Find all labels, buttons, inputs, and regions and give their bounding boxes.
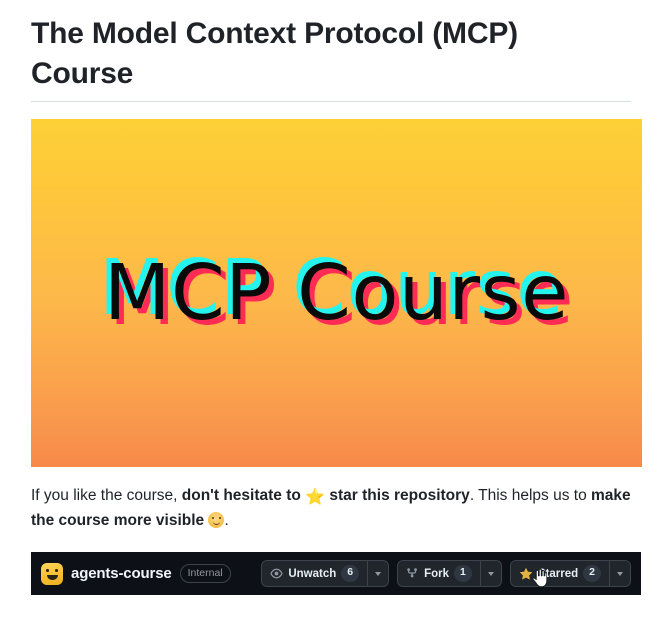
unwatch-dropdown-button[interactable] [367, 561, 388, 586]
star-request-paragraph: If you like the course, don't hesitate t… [31, 484, 637, 534]
unwatch-button[interactable]: Unwatch 6 [262, 561, 367, 586]
star-icon [519, 567, 533, 581]
unwatch-label: Unwatch [288, 568, 336, 580]
starred-button-group: Starred 2 [510, 560, 631, 587]
avatar-mouth [47, 575, 58, 580]
repo-identity: agents-course Internal [41, 563, 231, 585]
chevron-down-icon [488, 572, 494, 576]
chevron-down-icon [617, 572, 623, 576]
starred-dropdown-button[interactable] [609, 561, 630, 586]
para-bold-1: don't hesitate to [182, 487, 305, 504]
readme-page: The Model Context Protocol (MCP) Course … [0, 0, 662, 643]
starred-button[interactable]: Starred 2 [511, 561, 609, 586]
starred-count: 2 [583, 565, 601, 582]
fork-count: 1 [454, 565, 472, 582]
avatar[interactable] [41, 563, 63, 585]
para-bold-2: star this repository [325, 487, 470, 504]
chevron-down-icon [375, 572, 381, 576]
smiling-face-emoji [208, 512, 224, 528]
github-repo-header: agents-course Internal Unwatch 6 [31, 552, 641, 595]
title-divider [31, 101, 631, 102]
repo-actions: Unwatch 6 Fork 1 [261, 560, 631, 587]
banner-text-wrap: MCP Course [31, 119, 642, 467]
page-title: The Model Context Protocol (MCP) Course [31, 14, 591, 93]
fork-button-group: Fork 1 [397, 560, 502, 587]
eye-icon [270, 567, 283, 580]
fork-button[interactable]: Fork 1 [398, 561, 480, 586]
repo-name-link[interactable]: agents-course [71, 565, 172, 582]
fork-dropdown-button[interactable] [480, 561, 501, 586]
para-text-2: . This helps us to [470, 487, 591, 504]
starred-label: Starred [538, 568, 578, 580]
para-text-1: If you like the course, [31, 487, 182, 504]
avatar-eye-left [46, 569, 49, 572]
star-emoji: ⭐ [305, 484, 325, 509]
mcp-course-banner: MCP Course [31, 119, 642, 467]
unwatch-button-group: Unwatch 6 [261, 560, 389, 587]
para-text-3: . [224, 512, 228, 529]
fork-label: Fork [424, 568, 449, 580]
avatar-eye-right [55, 569, 58, 572]
visibility-badge: Internal [180, 564, 231, 583]
unwatch-count: 6 [341, 565, 359, 582]
banner-title-text: MCP Course [104, 255, 569, 332]
fork-icon [406, 567, 419, 580]
